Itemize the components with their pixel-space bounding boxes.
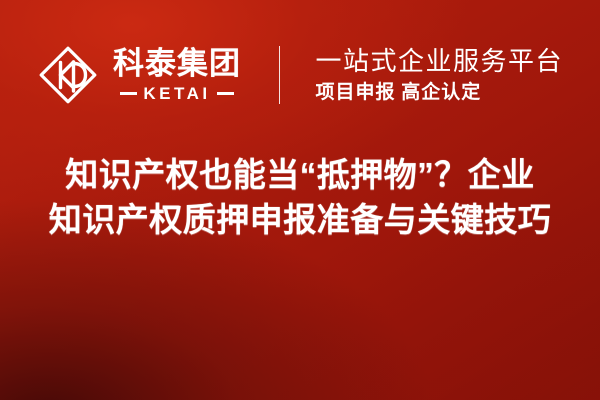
headline-block: 知识产权也能当“抵押物”？企业 知识产权质押申报准备与关键技巧 [0,152,600,242]
brand-text: 科泰集团 KETAI [113,48,241,103]
promo-banner: 科泰集团 KETAI 一站式企业服务平台 项目申报 高企认定 知识产权也能当“抵… [0,0,600,400]
vertical-divider [279,46,281,104]
banner-header: 科泰集团 KETAI 一站式企业服务平台 项目申报 高企认定 [0,36,600,114]
ketai-diamond-kp-monogram-icon [37,44,99,106]
brand-name-en-row: KETAI [113,85,241,102]
brand-name-cn: 科泰集团 [113,48,241,81]
brand-name-en: KETAI [143,85,210,102]
tagline-sub: 项目申报 高企认定 [315,82,563,104]
tagline-main: 一站式企业服务平台 [315,47,563,77]
tagline-block: 一站式企业服务平台 项目申报 高企认定 [315,47,563,104]
headline-line-2: 知识产权质押申报准备与关键技巧 [0,197,600,242]
headline-line-1: 知识产权也能当“抵押物”？企业 [0,152,600,197]
rule-left-icon [120,92,137,95]
brand-lockup: 科泰集团 KETAI 一站式企业服务平台 项目申报 高企认定 [37,44,563,106]
rule-right-icon [217,92,234,95]
